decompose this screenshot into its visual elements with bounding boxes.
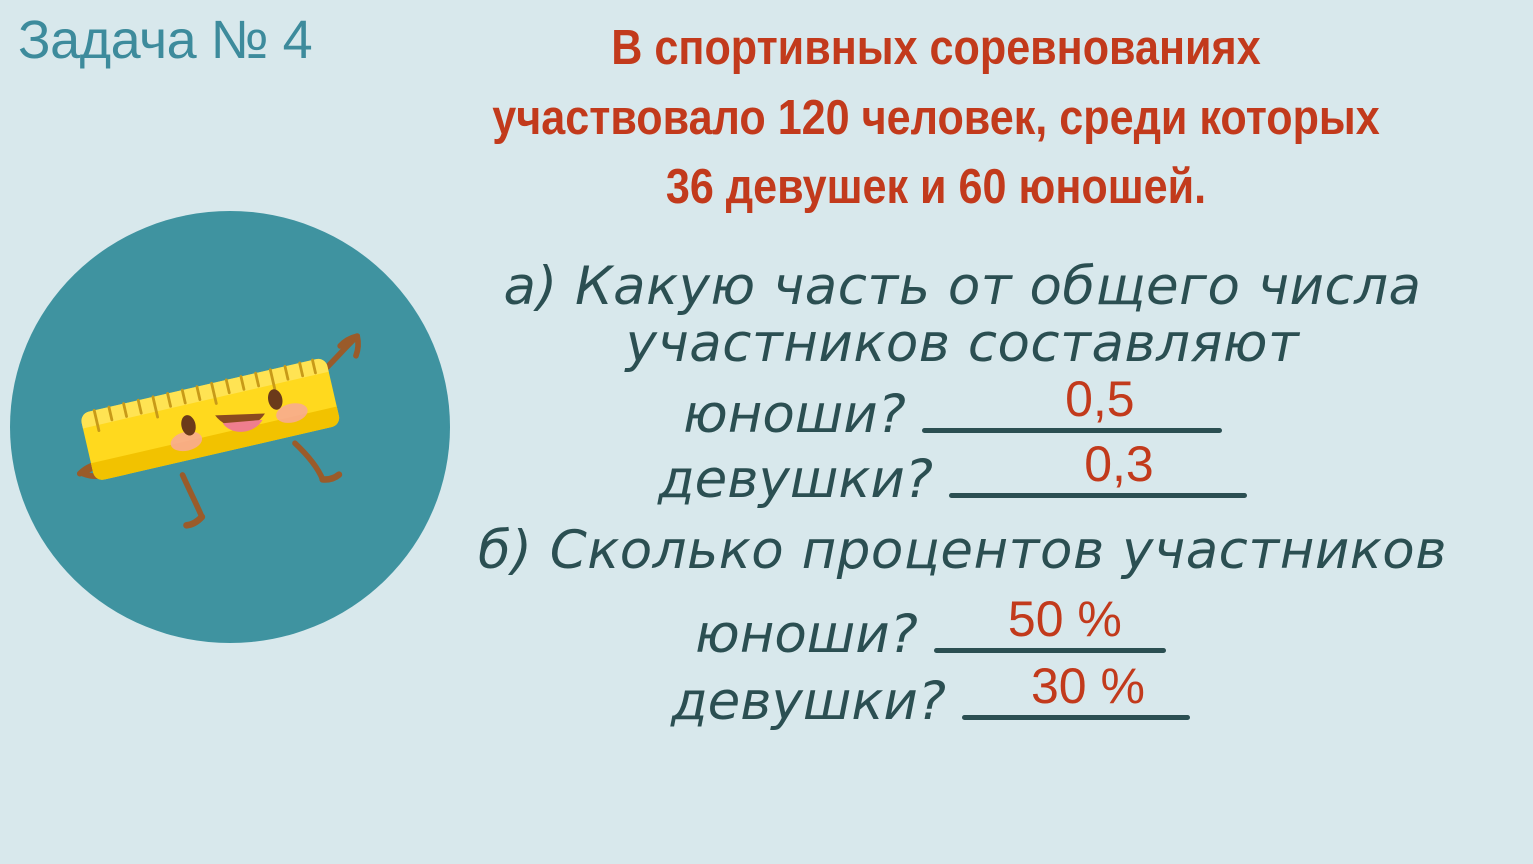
answer-value-a-boys: 0,5 <box>922 374 1222 428</box>
statement-line-1: В спортивных соревнованиях <box>422 14 1450 84</box>
answer-label-girls: девушки? <box>658 453 933 508</box>
answer-row-a-girls: девушки? 0,3 <box>400 439 1525 508</box>
illustration-container <box>10 211 450 643</box>
statement-line-2: участвовало 120 человек, среди которых <box>422 84 1450 154</box>
answer-underline <box>934 648 1166 653</box>
answer-blank-b-girls[interactable]: 30 % <box>962 661 1190 730</box>
answer-row-b-boys: юноши? 50 % <box>400 594 1525 663</box>
question-a-line-1: а) Какую часть от общего числа <box>400 258 1525 315</box>
answer-blank-b-boys[interactable]: 50 % <box>934 594 1166 663</box>
answer-underline <box>949 493 1247 498</box>
answer-label-girls: девушки? <box>671 675 946 730</box>
answer-blank-a-girls[interactable]: 0,3 <box>949 439 1247 508</box>
answer-underline <box>922 428 1222 433</box>
statement-line-3: 36 девушек и 60 юношей. <box>422 153 1450 223</box>
page-title: Задача № 4 <box>18 12 348 69</box>
ruler-mascot-icon <box>62 349 392 509</box>
answer-underline <box>962 715 1190 720</box>
answer-row-b-girls: девушки? 30 % <box>400 661 1525 730</box>
answer-value-a-girls: 0,3 <box>949 439 1247 493</box>
question-a-line-2: участников составляют <box>400 315 1525 372</box>
question-b-line-1: б) Сколько процентов участников <box>400 522 1525 579</box>
questions-block: а) Какую часть от общего числа участнико… <box>400 258 1525 730</box>
answer-label-boys: юноши? <box>695 608 918 663</box>
answer-value-b-boys: 50 % <box>934 594 1166 648</box>
answer-blank-a-boys[interactable]: 0,5 <box>922 374 1222 443</box>
answer-label-boys: юноши? <box>683 388 906 443</box>
problem-statement: В спортивных соревнованиях участвовало 1… <box>422 14 1450 223</box>
answer-value-b-girls: 30 % <box>962 661 1190 715</box>
answer-row-a-boys: юноши? 0,5 <box>400 374 1525 443</box>
slide-root: Задача № 4 <box>0 0 1533 864</box>
